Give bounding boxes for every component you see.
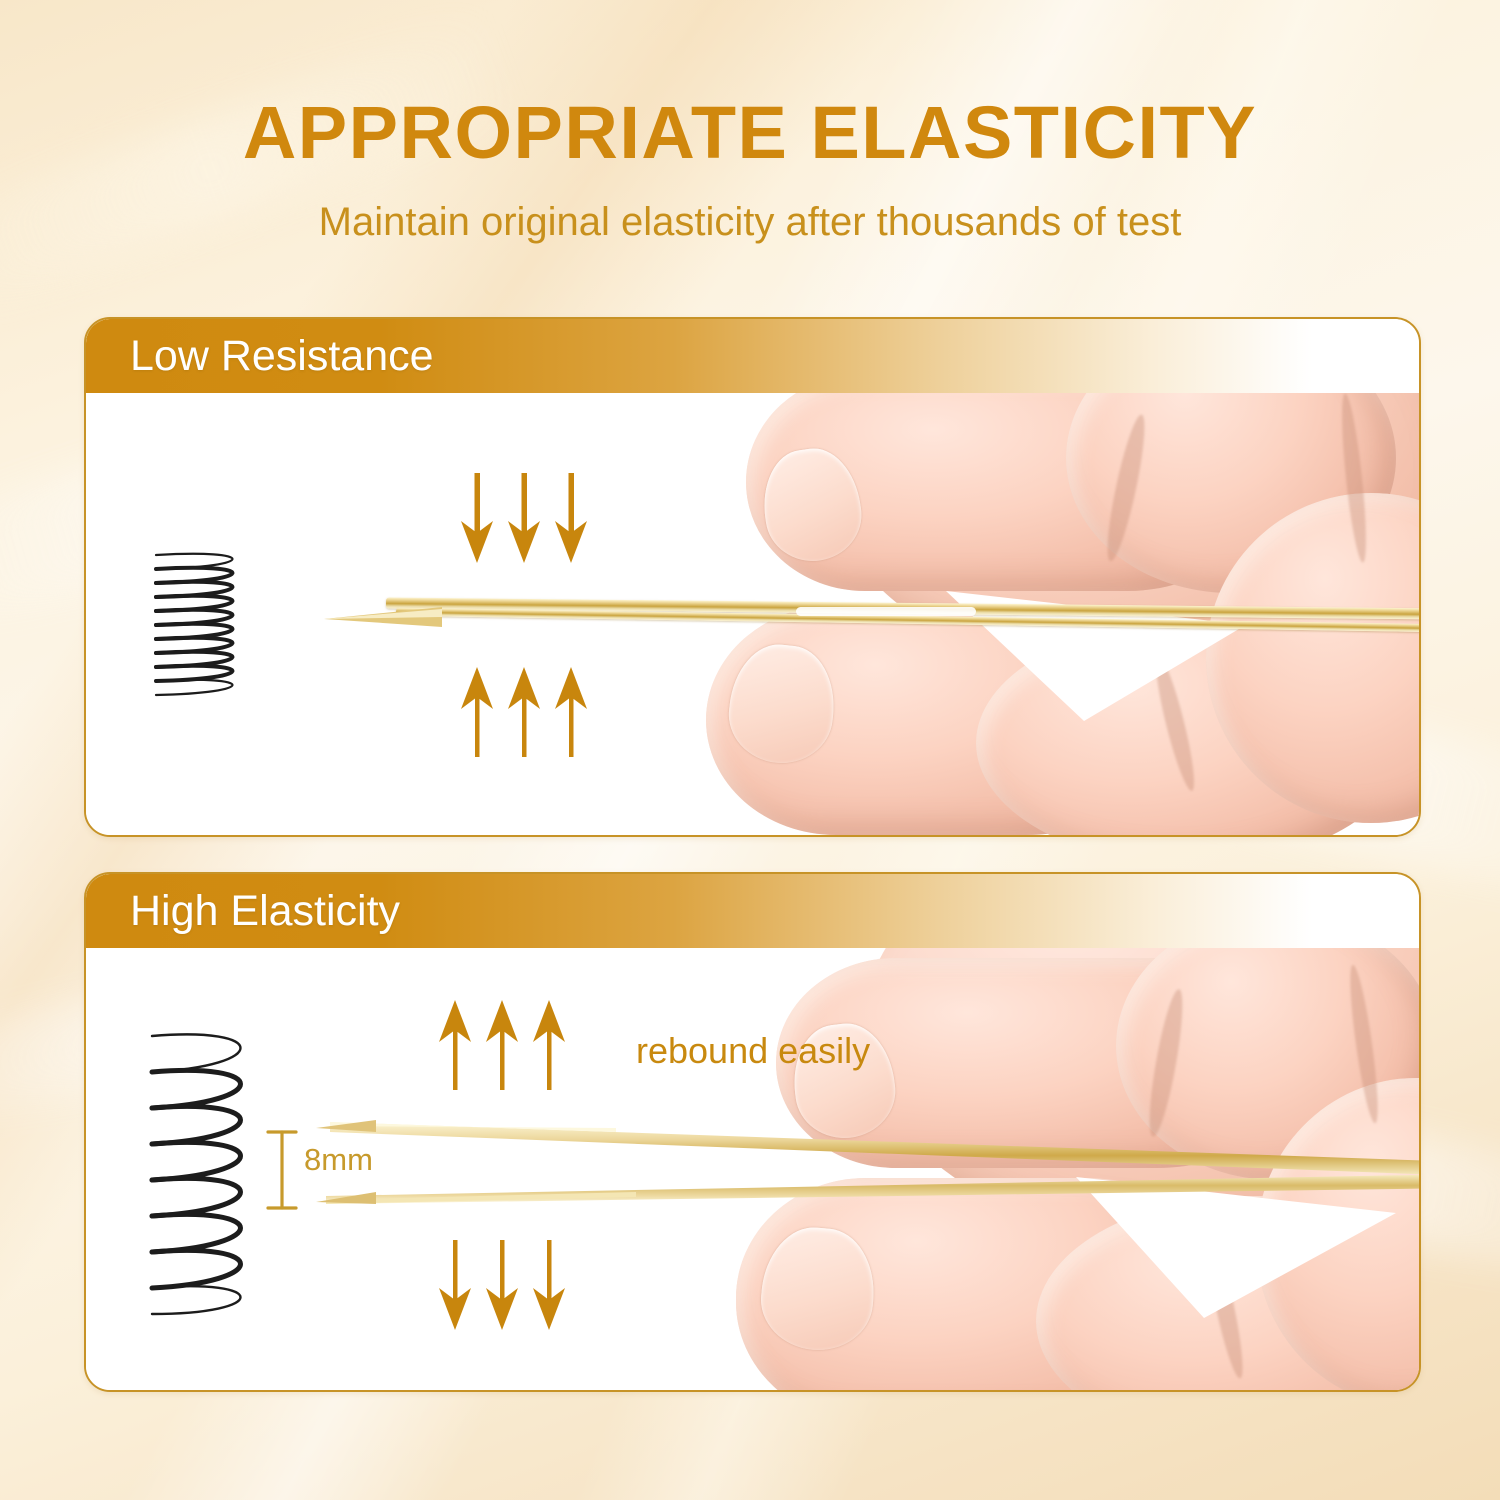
arrows-up-bottom [458,665,598,757]
tweezers-open-svg [316,1088,1419,1248]
arrow-group-down [458,473,598,565]
tweezer-slot [796,607,976,616]
arrow-group-up [458,665,598,757]
panel-body-high-elasticity: rebound easily 8mm [86,948,1419,1390]
dimension-ibeam-icon [262,1126,302,1214]
panel-title: Low Resistance [130,332,434,381]
photo-hand-closed-tweezers [86,393,1419,835]
spring-svg [138,543,278,703]
rebound-annotation: rebound easily [636,1030,870,1072]
dimension-label: 8mm [304,1142,373,1178]
arrows-up-top [436,998,576,1090]
spring-compressed-icon [138,543,278,703]
dimension-marker-8mm: 8mm [262,1126,302,1219]
page-subtitle: Maintain original elasticity after thous… [0,198,1500,246]
arrows-down-top [458,473,598,565]
panel-header-high-elasticity: High Elasticity [86,874,1419,948]
panel-low-resistance: Low Resistance [84,317,1421,837]
panel-body-low-resistance [86,393,1419,835]
infographic-canvas: APPROPRIATE ELASTICITY Maintain original… [0,0,1500,1500]
tweezer-tip [324,593,444,653]
page-title: APPROPRIATE ELASTICITY [0,96,1500,170]
arrow-group-up [436,998,576,1090]
tweezers-closed [326,583,1419,673]
tweezers-open [316,1088,1419,1248]
panel-high-elasticity: High Elasticity [84,872,1421,1392]
arrow-group-down [436,1240,576,1332]
panel-title: High Elasticity [130,887,400,936]
panel-header-low-resistance: Low Resistance [86,319,1419,393]
arrows-down-bottom [436,1240,576,1332]
